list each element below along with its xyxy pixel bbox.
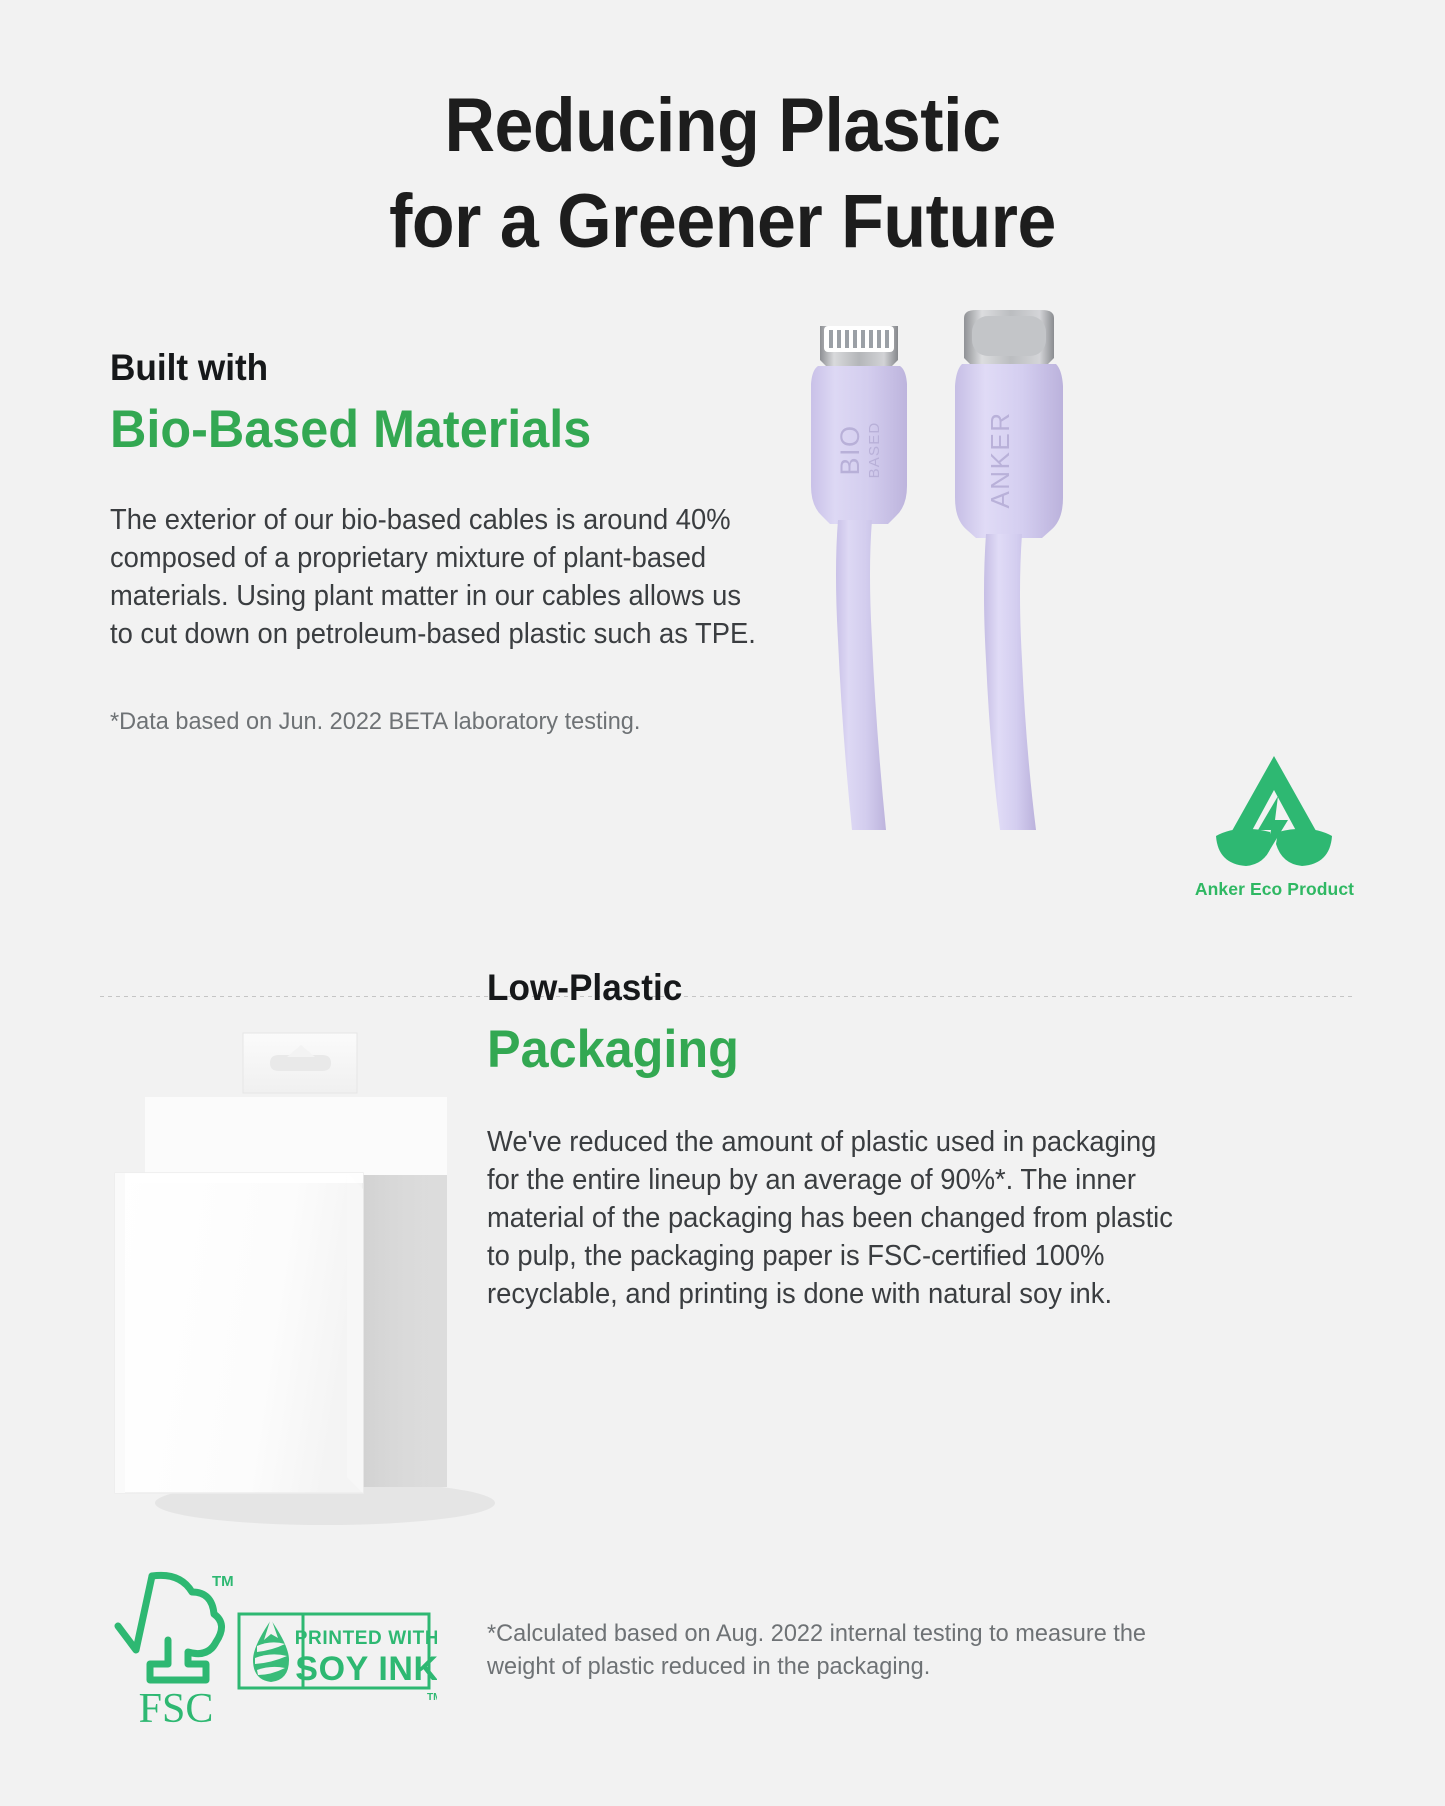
- fsc-label: FSC: [139, 1686, 214, 1725]
- bio-based-cable-image: BIO BASED ANKER: [790, 310, 1210, 830]
- eco-badge-label: Anker Eco Product: [1192, 879, 1357, 900]
- soy-ink-line1: PRINTED WITH: [295, 1628, 437, 1649]
- infographic-page: Reducing Plastic for a Greener Future Bu…: [0, 0, 1445, 1806]
- packaging-headline: Packaging: [487, 1017, 1181, 1083]
- cable-bio-label-line1: BIO: [835, 424, 865, 475]
- fsc-certification-logo: TM FSC: [112, 1570, 242, 1725]
- usbc-connector: ANKER: [955, 310, 1063, 830]
- packaging-kicker: Low-Plastic: [487, 965, 1181, 1011]
- bio-body-text: The exterior of our bio-based cables is …: [110, 501, 763, 653]
- cable-bio-label-line2: BASED: [866, 422, 883, 479]
- packaging-body-text: We've reduced the amount of plastic used…: [487, 1123, 1188, 1313]
- cable-anker-label: ANKER: [985, 411, 1015, 508]
- bio-headline: Bio-Based Materials: [110, 397, 766, 463]
- bio-kicker: Built with: [110, 345, 766, 391]
- page-title: Reducing Plastic for a Greener Future: [0, 78, 1445, 270]
- packaging-section-text: Low-Plastic Packaging We've reduced the …: [487, 965, 1217, 1313]
- title-line-1: Reducing Plastic: [58, 78, 1387, 174]
- soy-ink-line2: SOY INK: [295, 1650, 437, 1688]
- fsc-trademark: TM: [212, 1573, 234, 1590]
- soy-ink-certification-logo: PRINTED WITH SOY INK TM: [237, 1602, 437, 1702]
- lightning-connector: BIO BASED: [811, 326, 907, 830]
- packaging-footnote-block: *Calculated based on Aug. 2022 internal …: [487, 1617, 1217, 1683]
- packaging-footnote: *Calculated based on Aug. 2022 internal …: [487, 1617, 1188, 1683]
- printed-with-soy-ink-icon: PRINTED WITH SOY INK TM: [237, 1602, 437, 1702]
- soy-ink-trademark: TM: [427, 1692, 437, 1702]
- packaging-box-image: [95, 1025, 495, 1525]
- bio-based-section-text: Built with Bio-Based Materials The exter…: [110, 345, 800, 738]
- bio-footnote: *Data based on Jun. 2022 BETA laboratory…: [110, 705, 772, 738]
- fsc-tree-checkmark-icon: TM FSC: [112, 1570, 242, 1725]
- anker-eco-logo-icon: [1192, 752, 1357, 868]
- anker-eco-product-badge: Anker Eco Product: [1192, 752, 1357, 900]
- title-line-2: for a Greener Future: [58, 174, 1387, 270]
